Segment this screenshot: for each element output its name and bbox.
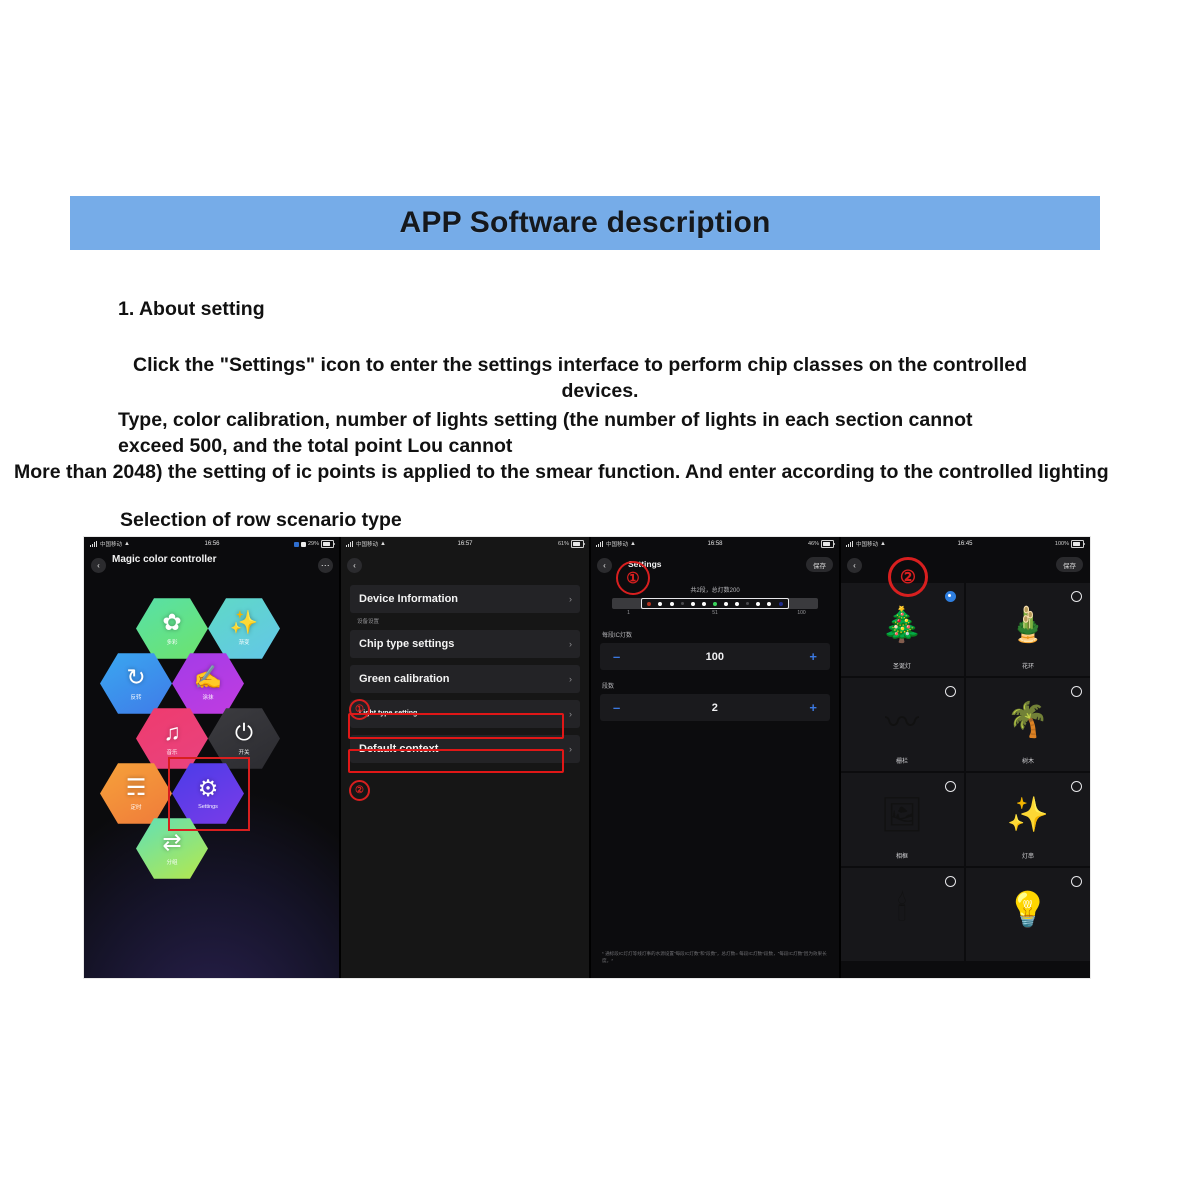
back-icon[interactable]: ‹ <box>347 558 362 573</box>
minus-button[interactable]: – <box>613 701 620 714</box>
led-dot <box>681 602 684 605</box>
paragraph-line-4: exceed 500, and the total point Lou cann… <box>118 433 1200 459</box>
scene-radio[interactable] <box>1071 686 1082 697</box>
screen-title: Magic color controller <box>112 554 242 566</box>
phone-screen-home: 中国移动 ▲ 16:56 29% ‹ Magic color controlle… <box>84 537 340 978</box>
phone-screen-scene-selection: 中国移动 ▲ 16:45 100% ‹ 保存 🎄 圣诞灯 <box>840 537 1090 978</box>
status-time: 16:58 <box>590 541 840 547</box>
hex-tile-fanzhuan[interactable]: ↻ 反转 <box>100 652 172 715</box>
stepper-value: 2 <box>712 702 718 714</box>
list-subtext: 设备设置 <box>357 617 590 625</box>
settings-hex-highlight <box>168 757 250 831</box>
hex-label: 音乐 <box>166 748 177 756</box>
chevron-right-icon: › <box>569 709 572 719</box>
list-item-label: Green calibration <box>359 674 449 685</box>
led-dot <box>647 602 651 606</box>
status-time: 16:45 <box>840 541 1090 547</box>
paragraph-line-6: Selection of row scenario type <box>120 507 1200 533</box>
scene-radio[interactable] <box>945 686 956 697</box>
led-dot <box>779 602 783 606</box>
footnote-text: * 通标段IC灯灯等线灯事的水源设置“每段IC灯数”和“段数”，总灯数= 每段I… <box>602 950 828 964</box>
battery-icon <box>571 540 584 548</box>
scene-tile-wreath[interactable]: 🎍 花环 <box>966 583 1090 676</box>
nav-bar: ‹ Magic color controller ⋯ <box>84 551 340 581</box>
scene-label: 树木 <box>1022 756 1034 765</box>
led-dot <box>670 602 674 606</box>
body-copy: 1. About setting Click the "Settings" ic… <box>0 296 1200 533</box>
save-button[interactable]: 保存 <box>1056 557 1083 572</box>
scene-radio[interactable] <box>945 876 956 887</box>
paragraph-line-1: Click the "Settings" icon to enter the s… <box>133 352 1200 378</box>
list-item-label: Chip type settings <box>359 639 454 650</box>
tick-end: 100 <box>797 610 805 616</box>
status-time: 16:56 <box>84 541 340 547</box>
battery-icon <box>1071 540 1084 548</box>
panel-divider <box>339 537 341 978</box>
phone-screen-settings-list: 中国移动 ▲ 16:57 61% ‹ Device Information › … <box>340 537 590 978</box>
scene-tile-photo-frame[interactable]: 🖼 相框 <box>840 773 964 866</box>
nav-bar: ‹ 保存 <box>840 551 1090 581</box>
hex-tile-timer[interactable]: ☴ 定时 <box>100 762 172 825</box>
annotation-marker-two: ② <box>888 557 928 597</box>
hand-draw-icon: ✍ <box>194 666 223 689</box>
scene-tile-string-lights[interactable]: ✨ 灯串 <box>966 773 1090 866</box>
screenshot-strip: 中国移动 ▲ 16:56 29% ‹ Magic color controlle… <box>84 537 1090 978</box>
scene-label: 圣诞灯 <box>893 661 911 670</box>
annotation-marker-two: ② <box>349 780 370 801</box>
led-dot <box>658 602 662 606</box>
save-button[interactable]: 保存 <box>806 557 833 572</box>
scene-radio-selected[interactable] <box>945 591 956 602</box>
list-item-chip-type-settings[interactable]: Chip type settings › <box>350 630 580 658</box>
field-label-ic-count: 每段IC灯数 <box>602 630 840 639</box>
status-bar: 中国移动 ▲ 16:45 100% <box>840 537 1090 551</box>
scene-grid: 🎄 圣诞灯 🎍 花环 〰 栅栏 🌴 树木 <box>840 583 1090 961</box>
led-dot <box>735 602 739 606</box>
scene-tile-lamp[interactable]: 🕯 <box>840 868 964 961</box>
field-label-segment-count: 段数 <box>602 681 840 690</box>
music-note-icon: ♫ <box>163 721 180 744</box>
scene-radio[interactable] <box>1071 781 1082 792</box>
back-icon[interactable]: ‹ <box>847 558 862 573</box>
scene-radio[interactable] <box>945 781 956 792</box>
hex-label: 渐变 <box>238 638 249 646</box>
scene-tile-christmas-tree[interactable]: 🎄 圣诞灯 <box>840 583 964 676</box>
scene-tile-ambient[interactable]: 💡 <box>966 868 1090 961</box>
minus-button[interactable]: – <box>613 650 620 663</box>
hex-label: 定时 <box>130 803 141 811</box>
led-dot <box>756 602 760 606</box>
hex-tile-duocai[interactable]: ✿ 多彩 <box>136 597 208 660</box>
chevron-right-icon: › <box>569 639 572 649</box>
scene-label: 栅栏 <box>896 756 908 765</box>
annotation-marker-one: ① <box>349 699 370 720</box>
magic-wand-icon: ✨ <box>230 611 259 634</box>
led-dot <box>713 602 717 606</box>
hex-label: 涂抹 <box>202 693 213 701</box>
default-context-highlight <box>348 749 564 773</box>
stepper-value: 100 <box>706 651 724 663</box>
page-title: APP Software description <box>400 206 771 240</box>
light-type-highlight <box>348 713 564 739</box>
timer-icon: ☴ <box>126 776 147 799</box>
refresh-icon: ↻ <box>126 666 145 689</box>
phone-screen-segment-settings: 中国移动 ▲ 16:58 46% ‹ Settings 保存 共2段，总灯数20… <box>590 537 840 978</box>
page-header-banner: APP Software description <box>70 196 1100 250</box>
hex-label: 分组 <box>166 858 177 866</box>
scene-label: 花环 <box>1022 661 1034 670</box>
scene-label: 灯串 <box>1022 851 1034 860</box>
hex-label: 多彩 <box>166 638 177 646</box>
battery-icon <box>321 540 334 548</box>
hex-label: 反转 <box>130 693 141 701</box>
panel-divider <box>589 537 591 978</box>
segment-settings-body: 共2段，总灯数200 <box>590 585 840 721</box>
back-icon[interactable]: ‹ <box>91 558 106 573</box>
group-link-icon: ⇄ <box>162 831 181 854</box>
scene-radio[interactable] <box>1071 591 1082 602</box>
segment-slider[interactable] <box>612 598 818 609</box>
chevron-right-icon: › <box>569 594 572 604</box>
scene-label: 相框 <box>896 851 908 860</box>
hex-tile-jianbian[interactable]: ✨ 渐变 <box>208 597 280 660</box>
paragraph-line-5: More than 2048) the setting of ic points… <box>14 459 1200 485</box>
scene-tile-tree[interactable]: 🌴 树木 <box>966 678 1090 771</box>
hex-menu-grid: ✿ 多彩 ✨ 渐变 ↻ 反转 ✍ 涂抹 ♫ 音乐 <box>84 581 340 978</box>
led-dot <box>691 602 695 606</box>
document-page: APP Software description 1. About settin… <box>0 0 1200 1200</box>
list-item-label: Device Information <box>359 594 458 605</box>
tick-middle: 51 <box>712 610 718 616</box>
chevron-right-icon: › <box>569 674 572 684</box>
led-dot <box>702 602 706 606</box>
tick-start: 1 <box>627 610 630 616</box>
stepper-segment-count[interactable]: – 2 + <box>600 694 830 721</box>
list-item-green-calibration[interactable]: Green calibration › <box>350 665 580 693</box>
ellipsis-icon[interactable]: ⋯ <box>318 558 333 573</box>
chevron-right-icon: › <box>569 744 572 754</box>
scene-radio[interactable] <box>1071 876 1082 887</box>
plus-button[interactable]: + <box>809 701 817 714</box>
hex-label: 开关 <box>238 748 249 756</box>
status-bar: 中国移动 ▲ 16:57 61% <box>340 537 590 551</box>
battery-icon <box>821 540 834 548</box>
status-bar: 中国移动 ▲ 16:58 46% <box>590 537 840 551</box>
segment-slider-active-range[interactable] <box>641 598 789 609</box>
stepper-ic-count[interactable]: – 100 + <box>600 643 830 670</box>
annotation-marker-one: ① <box>616 561 650 595</box>
back-icon[interactable]: ‹ <box>597 558 612 573</box>
section-heading: 1. About setting <box>118 296 1200 322</box>
plus-button[interactable]: + <box>809 650 817 663</box>
hex-tile-tuma[interactable]: ✍ 涂抹 <box>172 652 244 715</box>
led-dot <box>746 602 749 605</box>
panel-divider <box>839 537 841 978</box>
led-dot <box>724 602 728 606</box>
list-item-device-information[interactable]: Device Information › <box>350 585 580 613</box>
status-bar: 中国移动 ▲ 16:56 29% <box>84 537 340 551</box>
power-icon: ⏻ <box>235 721 253 744</box>
led-dot <box>767 602 771 606</box>
flower-icon: ✿ <box>162 611 181 634</box>
paragraph-line-2: devices. <box>0 378 1200 404</box>
paragraph-line-3: Type, color calibration, number of light… <box>118 407 1200 433</box>
segment-ticks: 1 51 100 <box>612 610 818 619</box>
scene-tile-fence[interactable]: 〰 栅栏 <box>840 678 964 771</box>
nav-bar: ‹ <box>340 551 590 581</box>
status-time: 16:57 <box>340 541 590 547</box>
